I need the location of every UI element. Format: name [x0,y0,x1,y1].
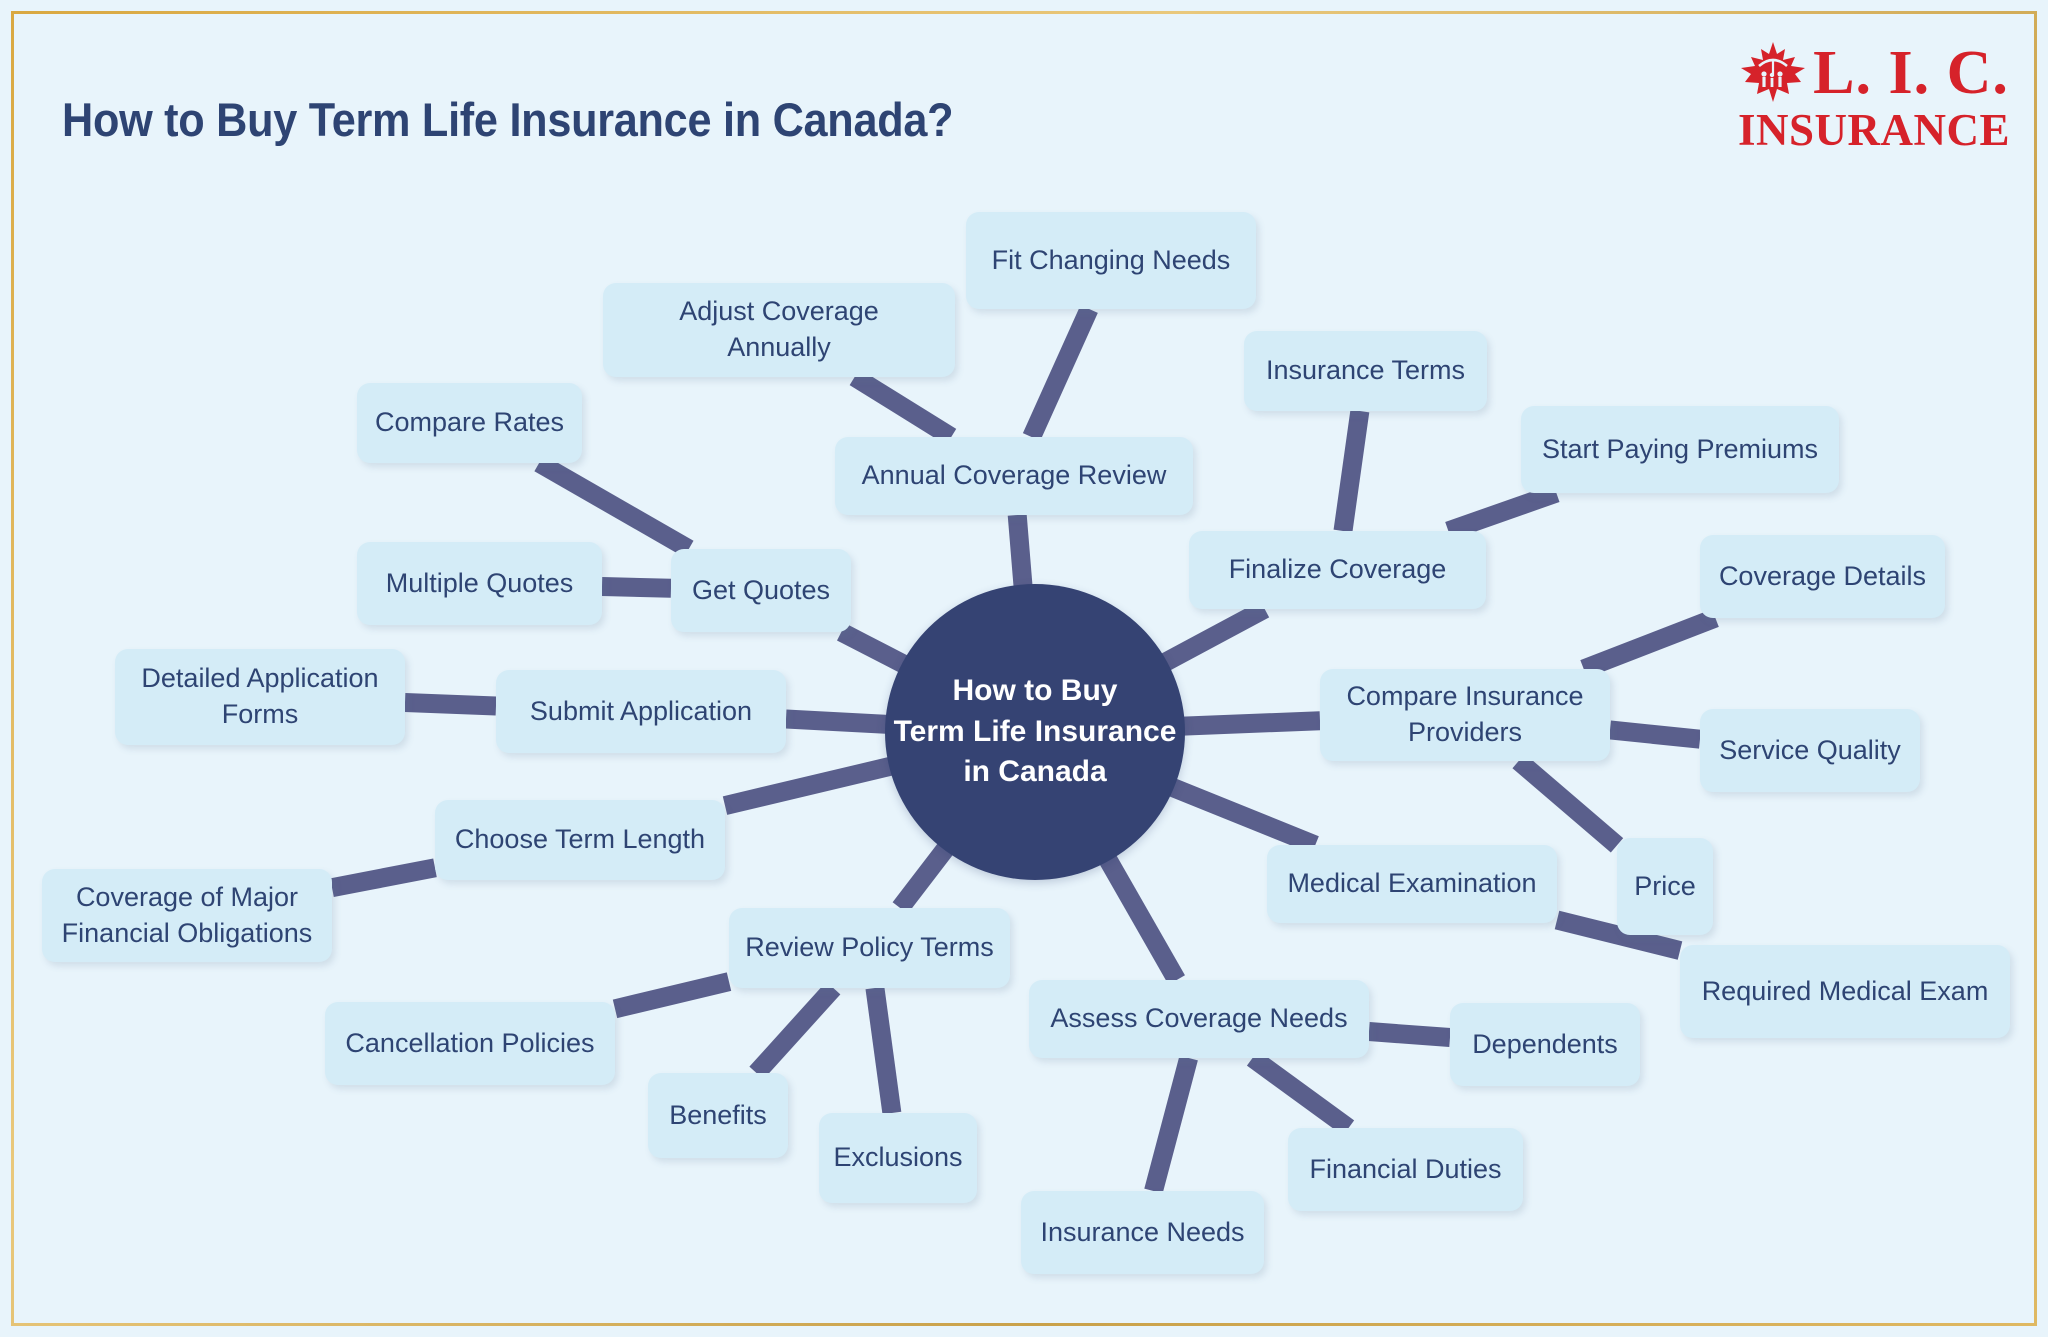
node-label: Compare Rates [375,405,564,441]
center-node[interactable]: How to Buy Term Life Insurance in Canada [885,584,1185,880]
node-label: Start Paying Premiums [1542,432,1818,468]
node-label: Exclusions [833,1140,962,1176]
node-label: Medical Examination [1287,866,1536,902]
node-label: Fit Changing Needs [992,243,1231,279]
node-label: Compare Insurance Providers [1346,679,1583,751]
logo-lic-text: L. I. C. [1813,42,2009,104]
node-coverage-major-financial-obligations[interactable]: Coverage of Major Financial Obligations [42,869,332,962]
node-medical-examination[interactable]: Medical Examination [1267,845,1557,923]
node-exclusions[interactable]: Exclusions [819,1113,977,1203]
node-label: Assess Coverage Needs [1050,1001,1347,1037]
node-get-quotes[interactable]: Get Quotes [671,549,851,632]
node-label: Review Policy Terms [745,930,994,966]
node-label: Required Medical Exam [1702,974,1989,1010]
maple-leaf-family-icon [1739,40,1807,106]
node-coverage-details[interactable]: Coverage Details [1700,535,1945,618]
node-cancellation-policies[interactable]: Cancellation Policies [325,1002,615,1085]
node-start-paying-premiums[interactable]: Start Paying Premiums [1521,406,1839,493]
node-benefits[interactable]: Benefits [648,1073,788,1158]
node-label: Benefits [669,1098,767,1134]
node-financial-duties[interactable]: Financial Duties [1288,1128,1523,1211]
node-label: Insurance Needs [1040,1215,1244,1251]
node-review-policy-terms[interactable]: Review Policy Terms [729,908,1010,988]
node-insurance-needs[interactable]: Insurance Needs [1021,1191,1264,1274]
page-title: How to Buy Term Life Insurance in Canada… [62,92,953,147]
node-label: Coverage of Major Financial Obligations [62,880,313,952]
node-label: Adjust Coverage Annually [679,294,879,366]
logo-insurance-text: INSURANCE [1738,108,2010,153]
node-dependents[interactable]: Dependents [1450,1003,1640,1086]
node-label: Annual Coverage Review [862,458,1167,494]
center-node-label: How to Buy Term Life Insurance in Canada [894,671,1177,793]
node-required-medical-exam[interactable]: Required Medical Exam [1680,945,2010,1038]
node-label: Coverage Details [1719,559,1926,595]
node-submit-application[interactable]: Submit Application [496,670,786,753]
node-label: Multiple Quotes [386,566,574,602]
node-label: Price [1634,869,1696,905]
node-label: Submit Application [530,694,752,730]
node-compare-rates[interactable]: Compare Rates [357,383,582,463]
node-service-quality[interactable]: Service Quality [1700,709,1920,792]
node-label: Insurance Terms [1266,353,1465,389]
node-compare-insurance-providers[interactable]: Compare Insurance Providers [1320,669,1610,761]
node-label: Finalize Coverage [1229,552,1447,588]
node-label: Get Quotes [692,573,830,609]
node-fit-changing-needs[interactable]: Fit Changing Needs [966,212,1256,309]
node-label: Dependents [1472,1027,1618,1063]
node-label: Detailed Application Forms [141,661,378,733]
node-finalize-coverage[interactable]: Finalize Coverage [1189,531,1486,609]
node-assess-coverage-needs[interactable]: Assess Coverage Needs [1029,980,1369,1058]
node-detailed-application-forms[interactable]: Detailed Application Forms [115,649,405,745]
mindmap-canvas: How to Buy Term Life Insurance in Canada… [0,0,2048,1337]
node-price[interactable]: Price [1617,838,1713,935]
node-label: Financial Duties [1309,1152,1501,1188]
node-annual-coverage-review[interactable]: Annual Coverage Review [835,437,1193,515]
node-label: Choose Term Length [455,822,705,858]
node-multiple-quotes[interactable]: Multiple Quotes [357,542,602,625]
node-adjust-coverage-annually[interactable]: Adjust Coverage Annually [603,283,955,377]
node-label: Cancellation Policies [345,1026,594,1062]
brand-logo: L. I. C. INSURANCE [1738,40,2010,153]
node-choose-term-length[interactable]: Choose Term Length [435,800,725,880]
node-insurance-terms[interactable]: Insurance Terms [1244,331,1487,411]
node-label: Service Quality [1719,733,1901,769]
